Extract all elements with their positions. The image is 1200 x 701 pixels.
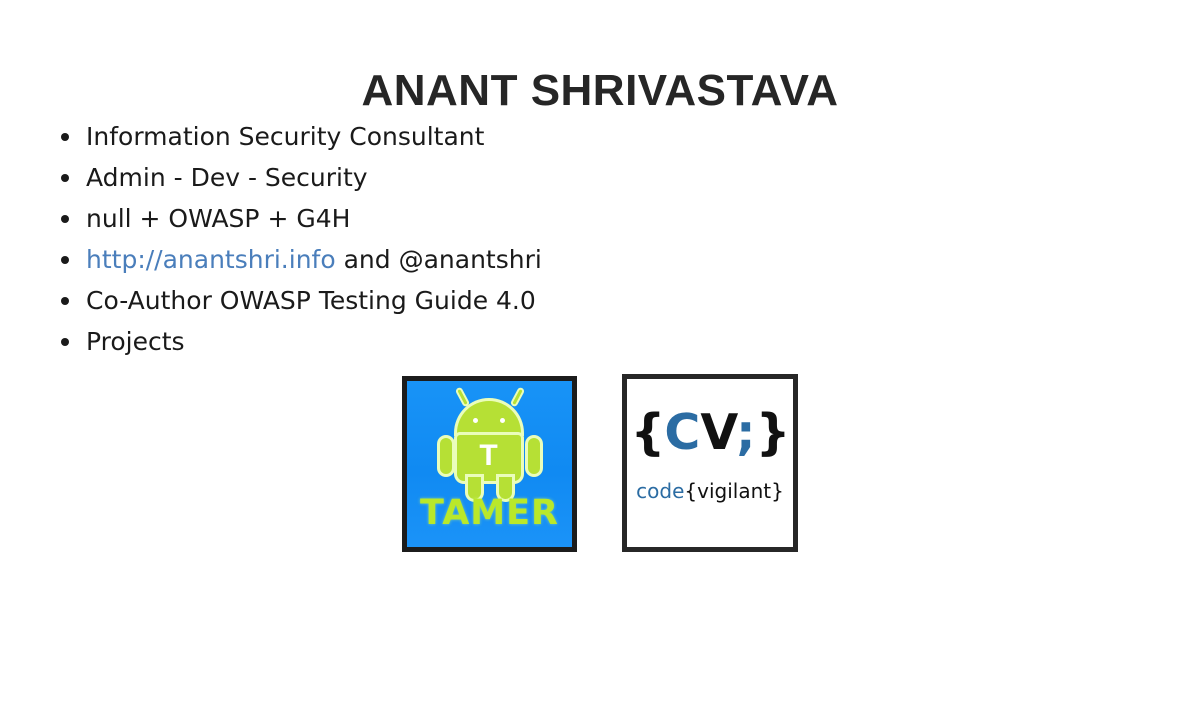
tamer-logo[interactable]: T TAMER (402, 376, 577, 552)
code-vigilant-mark: {CV;} (627, 405, 793, 461)
android-eye-right-icon (500, 418, 505, 423)
cv-semicolon: ; (736, 404, 756, 461)
tamer-wordmark: TAMER (407, 496, 572, 531)
list-item: Projects (54, 321, 854, 362)
android-body-icon: T (457, 435, 521, 481)
bullet-dot-icon (61, 174, 69, 182)
tamer-badge-letter: T (457, 441, 521, 471)
list-item: Admin - Dev - Security (54, 157, 854, 198)
cv-letter-v: V (700, 404, 736, 461)
bullet-dot-icon (61, 215, 69, 223)
cv-open-brace: { (630, 404, 664, 461)
project-logos-row: T TAMER {CV;} code{vigilant} (402, 374, 802, 554)
list-item-label: Projects (86, 327, 185, 356)
cv-wordmark-vigilant: {vigilant} (684, 479, 783, 503)
android-arm-left-icon (440, 438, 452, 474)
list-item-website: http://anantshri.info and @anantshri (54, 239, 854, 280)
list-item: Information Security Consultant (54, 116, 854, 157)
android-head-icon (457, 401, 521, 433)
bullet-dot-icon (61, 338, 69, 346)
bullet-dot-icon (61, 297, 69, 305)
list-item: Co-Author OWASP Testing Guide 4.0 (54, 280, 854, 321)
android-robot-icon: T (436, 393, 544, 501)
android-arm-right-icon (528, 438, 540, 474)
code-vigilant-wordmark: code{vigilant} (627, 479, 793, 503)
list-item-label: Co-Author OWASP Testing Guide 4.0 (86, 286, 536, 315)
twitter-handle-label: and @anantshri (336, 245, 542, 274)
page-title: ANANT SHRIVASTAVA (0, 67, 1200, 115)
list-item-label: Information Security Consultant (86, 122, 484, 151)
list-item-label: null + OWASP + G4H (86, 204, 350, 233)
website-link[interactable]: http://anantshri.info (86, 245, 336, 274)
presentation-slide: ANANT SHRIVASTAVA Information Security C… (0, 0, 1200, 701)
android-antenna-left-icon (457, 389, 467, 405)
bullet-dot-icon (61, 133, 69, 141)
code-vigilant-logo[interactable]: {CV;} code{vigilant} (622, 374, 798, 552)
cv-letter-c: C (664, 404, 700, 461)
android-antenna-right-icon (512, 389, 522, 405)
cv-wordmark-code: code (636, 479, 684, 503)
list-item: null + OWASP + G4H (54, 198, 854, 239)
tamer-logo-background: T TAMER (407, 381, 572, 547)
bullet-dot-icon (61, 256, 69, 264)
bullet-list: Information Security Consultant Admin - … (54, 116, 854, 362)
cv-close-brace: } (756, 404, 790, 461)
android-eye-left-icon (473, 418, 478, 423)
list-item-label: Admin - Dev - Security (86, 163, 368, 192)
